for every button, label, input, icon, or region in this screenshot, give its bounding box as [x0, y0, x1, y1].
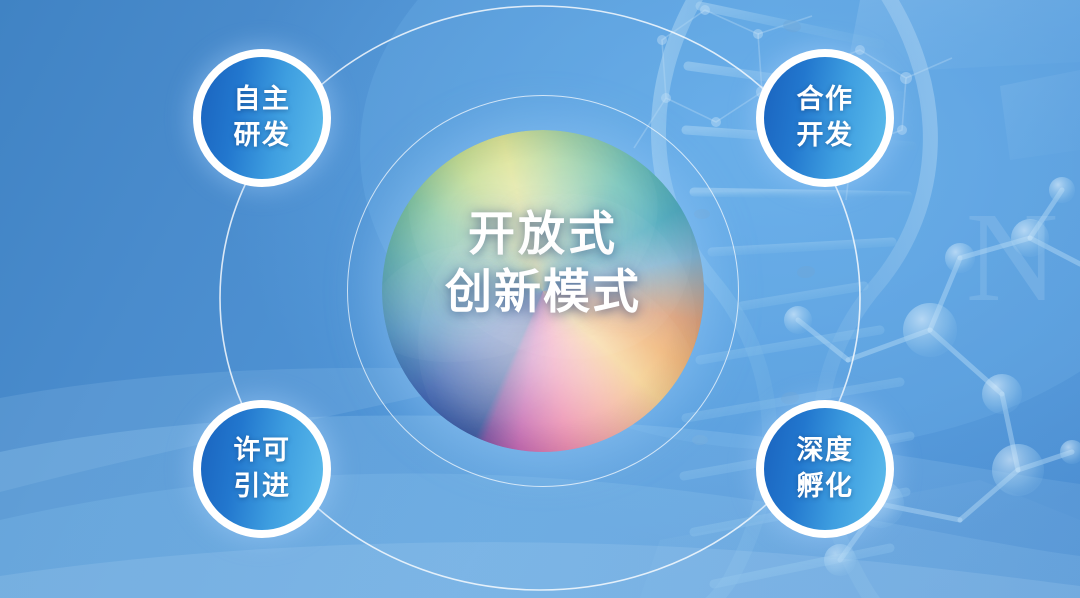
- node-deep-incubation-line2: 孵化: [797, 469, 854, 505]
- node-license-in-line2: 引进: [234, 469, 291, 505]
- node-license-in[interactable]: 许可 引进: [193, 400, 331, 538]
- node-cooperative-development-line1: 合作: [797, 82, 854, 118]
- node-deep-incubation[interactable]: 深度 孵化: [756, 400, 894, 538]
- center-title-line1: 开放式: [363, 205, 723, 263]
- node-independent-rd-line1: 自主: [234, 82, 291, 118]
- node-license-in-line1: 许可: [234, 433, 291, 469]
- node-deep-incubation-line1: 深度: [797, 433, 854, 469]
- slide-canvas: N: [0, 0, 1080, 598]
- center-title-line2: 创新模式: [363, 263, 723, 321]
- node-independent-rd-line2: 研发: [234, 118, 291, 154]
- node-cooperative-development[interactable]: 合作 开发: [756, 49, 894, 187]
- node-cooperative-development-line2: 开发: [797, 118, 854, 154]
- center-title: 开放式 创新模式: [363, 205, 723, 322]
- node-independent-rd[interactable]: 自主 研发: [193, 49, 331, 187]
